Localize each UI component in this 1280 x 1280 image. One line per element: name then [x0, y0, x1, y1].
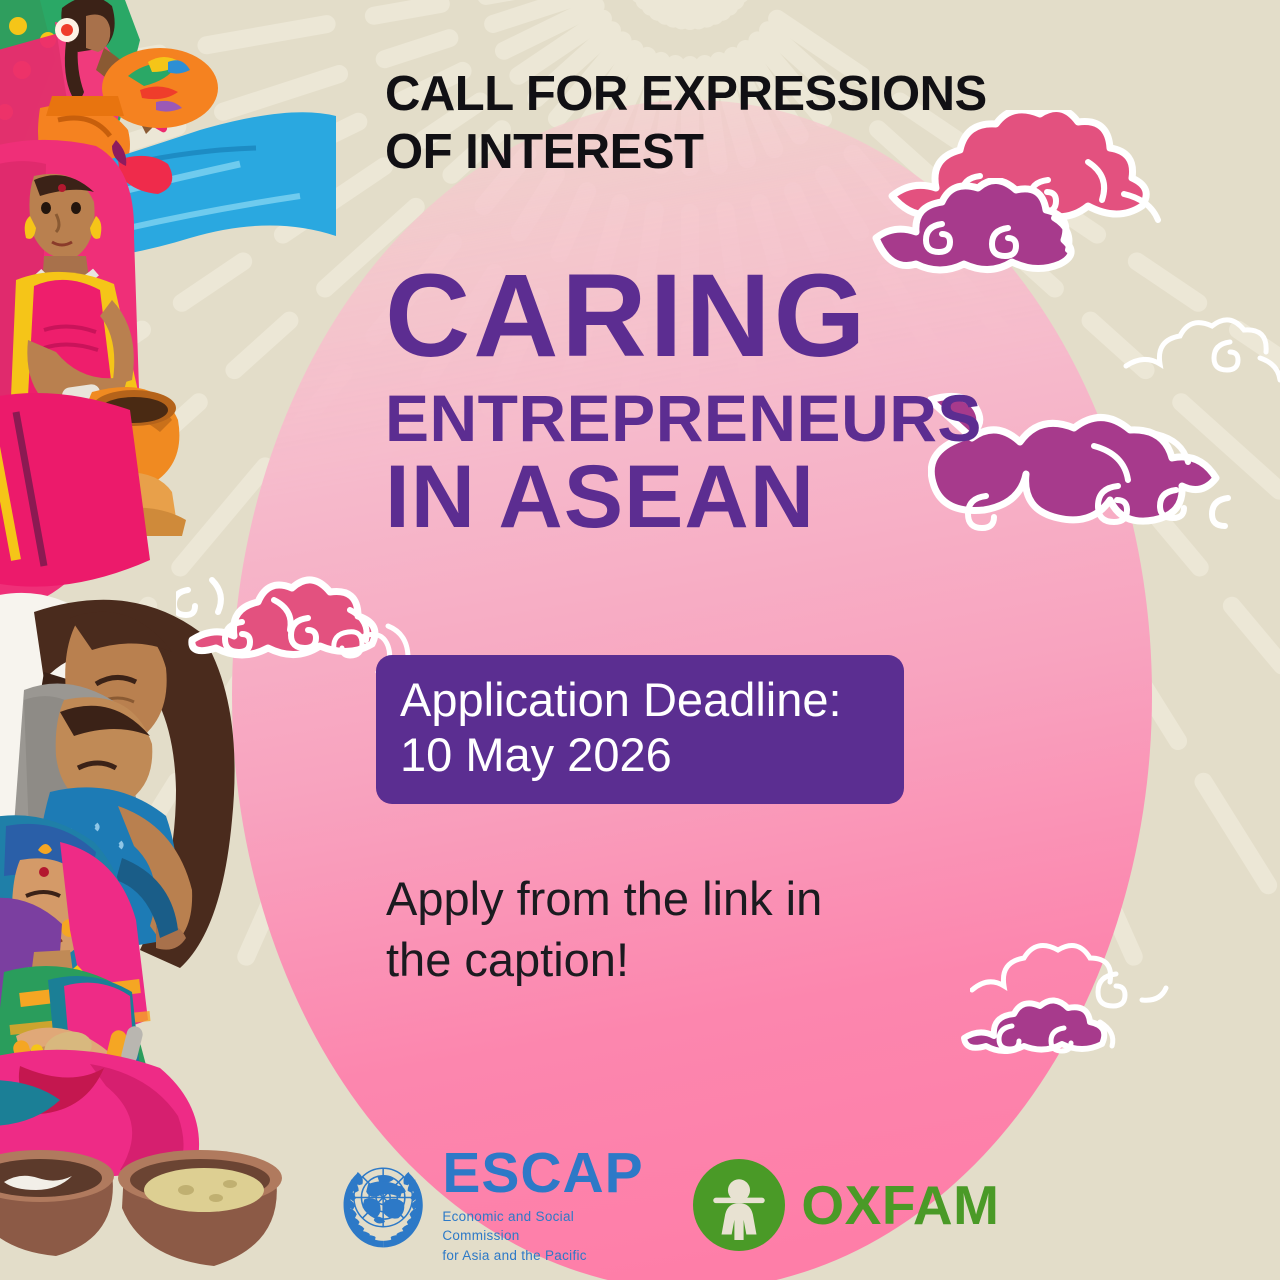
escap-wordmark: ESCAP	[442, 1145, 647, 1202]
cloud-outline-right	[1120, 296, 1280, 386]
escap-logo: ESCAP Economic and Social Commission for…	[336, 1145, 647, 1266]
escap-text-block: ESCAP Economic and Social Commission for…	[442, 1145, 647, 1266]
deadline-date: 10 May 2026	[400, 728, 880, 783]
oxfam-logo: OXFAM	[693, 1159, 999, 1251]
escap-subtitle: Economic and Social Commission for Asia …	[442, 1207, 647, 1266]
escap-subtitle-line-2: for Asia and the Pacific	[442, 1246, 647, 1266]
title-line-1: CARING	[385, 262, 945, 371]
escap-subtitle-line-1: Economic and Social Commission	[442, 1207, 647, 1246]
apply-line-2: the caption!	[386, 929, 916, 990]
poster-canvas: CALL FOR EXPRESSIONS OF INTEREST CARING …	[0, 0, 1280, 1280]
title-line-3: IN ASEAN	[385, 453, 945, 540]
page-title: CARING ENTREPRENEURS IN ASEAN	[385, 262, 945, 540]
deadline-label: Application Deadline:	[400, 673, 880, 728]
un-emblem-icon	[336, 1156, 430, 1254]
apply-line-1: Apply from the link in	[386, 868, 916, 929]
page-kicker: CALL FOR EXPRESSIONS OF INTEREST	[385, 66, 1005, 182]
oxfam-person-icon	[693, 1159, 785, 1251]
cloud-outline-bottom-right	[970, 930, 1180, 1020]
apply-instruction: Apply from the link in the caption!	[386, 868, 916, 990]
title-line-2: ENTREPRENEURS	[385, 385, 945, 451]
logo-row: ESCAP Economic and Social Commission for…	[336, 1148, 976, 1262]
oxfam-wordmark: OXFAM	[801, 1173, 999, 1237]
deadline-badge: Application Deadline: 10 May 2026	[376, 655, 904, 804]
